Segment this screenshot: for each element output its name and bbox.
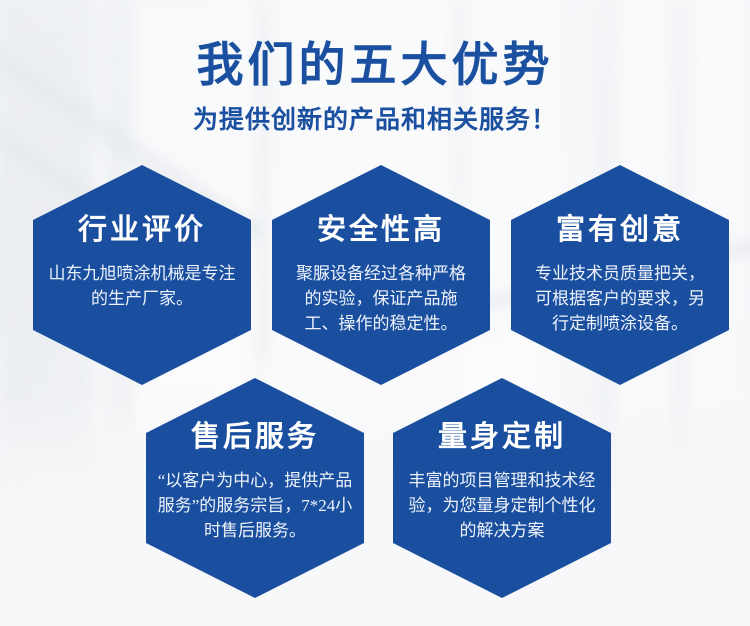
advantage-title: 安全性高 [317,213,445,247]
advantage-title: 量身定制 [438,420,566,454]
page-title: 我们的五大优势 [0,38,750,94]
advantage-body: 山东九旭喷涂机械是专注的生产厂家。 [44,261,240,311]
advantage-title: 富有创意 [556,213,684,247]
advantage-body: “以客户为中心，提供产品服务”的服务宗旨，7*24小时售后服务。 [156,468,354,543]
advantage-body: 聚脲设备经过各种严格的实验，保证产品施工、操作的稳定性。 [288,261,474,336]
advantage-body: 丰富的项目管理和技术经验，为您量身定制个性化的解决方案 [403,468,601,543]
heading-block: 我们的五大优势 为提供创新的产品和相关服务！ [0,38,750,138]
advantage-body: 专业技术员质量把关，可根据客户的要求，另行定制喷涂设备。 [527,261,713,336]
advantage-title: 售后服务 [191,420,319,454]
advantage-title: 行业评价 [78,213,206,247]
page-subtitle: 为提供创新的产品和相关服务！ [0,104,750,138]
advantages-banner: 我们的五大优势 为提供创新的产品和相关服务！ 行业评价 山东九旭喷涂机械是专注的… [0,0,750,626]
